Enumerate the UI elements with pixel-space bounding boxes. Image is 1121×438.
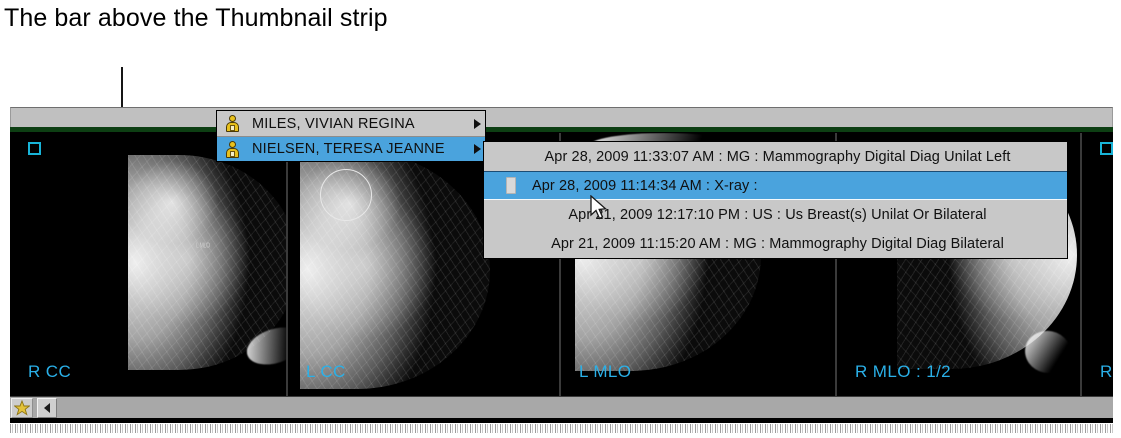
study-menu-item-label: Apr 21, 2009 11:15:20 AM : MG : Mammogra… (551, 236, 1004, 252)
thumbnail-panel-r-cc[interactable]: L MLO R CC (10, 133, 288, 396)
thumbnail-strip-scrollbar[interactable] (10, 396, 1113, 418)
study-menu-item-label: Apr 21, 2009 12:17:10 PM : US : Us Breas… (568, 207, 986, 223)
patient-menu-item-label: NIELSEN, TERESA JEANNE (252, 141, 468, 157)
patient-menu-item-miles[interactable]: MILES, VIVIAN REGINA (217, 111, 485, 136)
chevron-right-icon (474, 119, 481, 129)
panel-label: L MLO (579, 362, 631, 382)
study-menu-item-2[interactable]: Apr 28, 2009 11:14:34 AM : X-ray : (484, 171, 1067, 200)
star-icon (14, 400, 30, 416)
hatched-bottom-edge (10, 423, 1113, 433)
patient-menu-item-nielsen[interactable]: NIELSEN, TERESA JEANNE (217, 136, 485, 161)
panel-label: L CC (306, 362, 346, 382)
thumbnail-panel-r-mlo-partial[interactable]: R M (1082, 133, 1113, 396)
study-menu-item-label: Apr 28, 2009 11:14:34 AM : X-ray : (532, 178, 758, 194)
callout-leader-line (121, 67, 123, 109)
figure-caption: The bar above the Thumbnail strip (4, 4, 388, 33)
person-icon (225, 141, 240, 158)
roi-annotation (320, 169, 372, 221)
screenshot-root: The bar above the Thumbnail strip L MLO … (0, 0, 1121, 438)
film-icon (506, 177, 516, 194)
panel-label: R M (1100, 362, 1113, 382)
panel-label: R CC (28, 362, 71, 382)
panel-active-marker-icon (1100, 142, 1113, 155)
scroll-left-button[interactable] (37, 398, 57, 418)
patient-menu-item-label: MILES, VIVIAN REGINA (252, 116, 468, 132)
study-list-submenu[interactable]: Apr 28, 2009 11:33:07 AM : MG : Mammogra… (483, 141, 1068, 259)
dicom-overlay-text: L MLO (196, 243, 210, 251)
panel-active-marker-icon (28, 142, 41, 155)
chevron-left-icon (44, 403, 50, 413)
study-menu-item-3[interactable]: Apr 21, 2009 12:17:10 PM : US : Us Breas… (484, 200, 1067, 229)
scrollbar-trough[interactable] (58, 398, 1112, 418)
patient-context-menu[interactable]: MILES, VIVIAN REGINA NIELSEN, TERESA JEA… (216, 110, 486, 162)
study-menu-item-4[interactable]: Apr 21, 2009 11:15:20 AM : MG : Mammogra… (484, 229, 1067, 258)
chevron-right-icon (474, 144, 481, 154)
person-icon (225, 115, 240, 132)
favorite-star-button[interactable] (11, 398, 33, 418)
study-menu-item-1[interactable]: Apr 28, 2009 11:33:07 AM : MG : Mammogra… (484, 142, 1067, 171)
panel-label: R MLO : 1/2 (855, 362, 951, 382)
study-menu-item-label: Apr 28, 2009 11:33:07 AM : MG : Mammogra… (545, 149, 1011, 165)
thumbnail-strip-toolbar[interactable] (10, 107, 1113, 127)
